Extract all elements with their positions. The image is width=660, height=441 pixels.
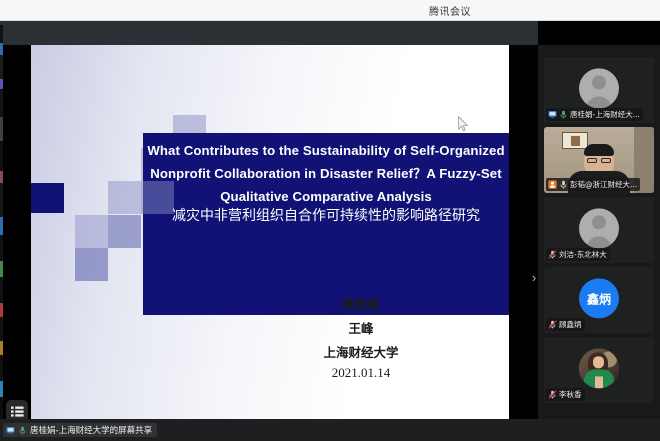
mic-off-icon: [548, 250, 557, 259]
slide-title-line-2: Nonprofit Collaboration in Disaster Reli…: [143, 162, 509, 185]
participant-name: 唐桂娟-上海财经大...: [570, 109, 640, 120]
mic-off-icon: [548, 320, 557, 329]
participant-tile[interactable]: 李秋香: [544, 337, 654, 403]
avatar-body: [586, 236, 612, 248]
slide-title-line-1: What Contributes to the Sustainability o…: [143, 139, 509, 162]
participant-tile[interactable]: 彭韬@浙江财经大...: [544, 127, 654, 193]
slide-author-2: 王峰: [261, 317, 461, 341]
window-titlebar: 腾讯会议: [0, 0, 660, 21]
slide-authors: 唐桂娟 王峰 上海财经大学: [261, 293, 461, 365]
person-raised-hand-icon: [548, 180, 557, 189]
tencent-meeting-window: 腾讯会议 What Contributes to the Sustainabil…: [0, 0, 660, 441]
deco-square: [75, 215, 108, 248]
avatar: [579, 68, 619, 108]
slideshow-menu-button[interactable]: [6, 400, 28, 419]
screen-share-icon: [548, 110, 557, 119]
screen-share-icon: [6, 426, 15, 435]
next-slide-button[interactable]: ›: [527, 260, 538, 294]
window-title: 腾讯会议: [429, 3, 471, 18]
toolbar-band-right: [538, 21, 660, 45]
avatar-head: [592, 215, 606, 229]
mic-on-icon: [18, 426, 27, 435]
avatar-initials-text: 鑫炳: [587, 290, 611, 307]
shared-screen-stage[interactable]: What Contributes to the Sustainability o…: [3, 45, 538, 419]
mouse-pointer-icon: [458, 116, 469, 132]
slide-author-1: 唐桂娟: [261, 293, 461, 317]
participant-label: 刘洁-东北林大: [546, 248, 610, 261]
participant-label: 李秋香: [546, 388, 585, 401]
list-icon: [11, 406, 24, 417]
participant-tile[interactable]: 刘洁-东北林大: [544, 197, 654, 263]
participant-tile[interactable]: 唐桂娟-上海财经大...: [544, 57, 654, 123]
mic-off-icon: [548, 390, 557, 399]
slide-affiliation: 上海财经大学: [261, 341, 461, 365]
avatar: [579, 208, 619, 248]
mic-on-icon: [559, 180, 568, 189]
participant-label: 唐桂娟-上海财经大...: [546, 108, 643, 121]
participant-name: 彭韬@浙江财经大...: [570, 179, 637, 190]
slide-subtitle-chinese: 减灾中非营利组织自合作可持续性的影响路径研究: [143, 205, 509, 227]
slide-date: 2021.01.14: [261, 365, 461, 381]
presentation-slide: What Contributes to the Sustainability o…: [31, 45, 509, 419]
avatar: 鑫炳: [579, 278, 619, 318]
avatar: [579, 348, 619, 388]
participant-rail[interactable]: 唐桂娟-上海财经大...: [538, 45, 660, 419]
video-wall-frame: [562, 132, 588, 149]
participant-name: 顾鑫炳: [559, 319, 582, 330]
participant-name: 刘洁-东北林大: [559, 249, 607, 260]
deco-square: [75, 248, 108, 281]
deco-square: [108, 215, 141, 248]
deco-square: [108, 181, 141, 214]
avatar-head: [592, 75, 606, 89]
participant-tile[interactable]: 鑫炳 顾鑫炳: [544, 267, 654, 333]
chevron-right-icon: ›: [532, 270, 536, 285]
toolbar-band: [0, 21, 538, 45]
avatar-body: [586, 96, 612, 108]
slide-navy-accent: [31, 183, 64, 213]
screen-share-status-chip[interactable]: 唐桂娟-上海财经大学的屏幕共享: [3, 423, 157, 437]
mic-on-icon: [559, 110, 568, 119]
participant-name: 李秋香: [559, 389, 582, 400]
participant-label: 彭韬@浙江财经大...: [546, 178, 640, 191]
screen-share-status-text: 唐桂娟-上海财经大学的屏幕共享: [30, 424, 152, 436]
participant-label: 顾鑫炳: [546, 318, 585, 331]
slide-title: What Contributes to the Sustainability o…: [143, 139, 509, 208]
